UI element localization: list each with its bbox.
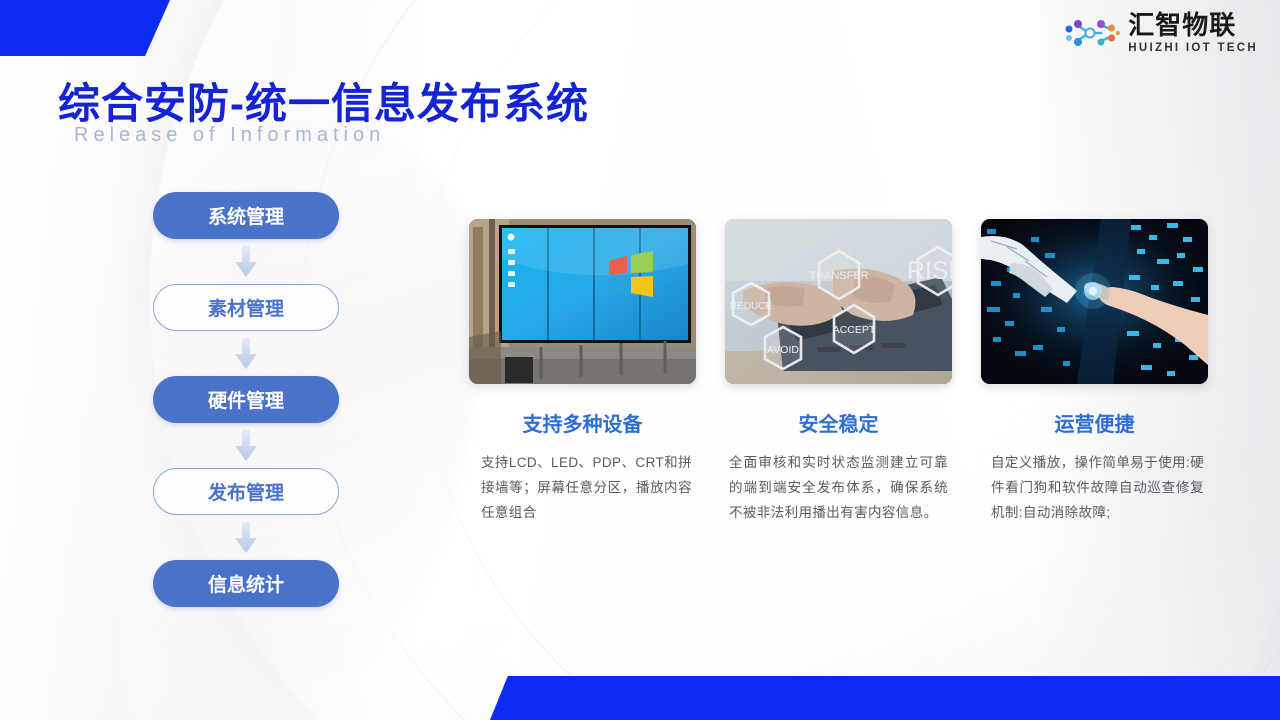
feature-card-title: 运营便捷 [981,408,1208,437]
flow-step-release-management[interactable]: 发布管理 [153,468,339,515]
robot-human-hand-photo [981,219,1208,384]
feature-card-title: 安全稳定 [725,408,952,437]
flow-step-label: 系统管理 [208,202,284,229]
flow-step-hardware-management[interactable]: 硬件管理 [153,376,339,423]
flow-step-label: 硬件管理 [208,386,284,413]
network-nodes-icon [1064,13,1120,53]
arrow-down-icon [235,338,257,369]
logo-name-en: HUIZHI IOT TECH [1128,43,1258,55]
corner-accent-top-left [0,0,170,56]
video-wall-photo [469,219,696,384]
flow-step-label: 素材管理 [208,294,284,321]
corner-accent-bottom-right [490,676,1280,720]
flow-step-label: 信息统计 [208,570,284,597]
feature-card: 支持多种设备 支持LCD、LED、PDP、CRT和拼接墙等；屏幕任意分区，播放内… [469,219,696,526]
feature-card-list: 支持多种设备 支持LCD、LED、PDP、CRT和拼接墙等；屏幕任意分区，播放内… [469,219,1209,526]
arrow-down-icon [235,430,257,461]
flow-step-system-management[interactable]: 系统管理 [153,192,339,239]
feature-card: RISK TRANSFER REDUCE ACCEPT AVOID 安全稳定 全… [725,219,952,526]
feature-card-title: 支持多种设备 [469,408,696,437]
page-subtitle: Release of Information [74,124,385,147]
arrow-down-icon [235,522,257,553]
feature-card-body: 自定义播放，操作简单易于使用:硬件看门狗和软件故障自动巡查修复机制:自动消除故障… [981,451,1208,526]
brand-logo: 汇智物联 HUIZHI IOT TECH [1064,12,1258,55]
slide-canvas: 汇智物联 HUIZHI IOT TECH 综合安防-统一信息发布系统 Relea… [0,0,1280,720]
feature-card: 运营便捷 自定义播放，操作简单易于使用:硬件看门狗和软件故障自动巡查修复机制:自… [981,219,1208,526]
process-flow: 系统管理 素材管理 硬件管理 发布管理 信息统计 [153,192,339,607]
flow-step-material-management[interactable]: 素材管理 [153,284,339,331]
logo-name-cn: 汇智物联 [1128,12,1258,38]
arrow-down-icon [235,246,257,277]
feature-card-body: 支持LCD、LED、PDP、CRT和拼接墙等；屏幕任意分区，播放内容任意组合 [469,451,696,526]
flow-step-label: 发布管理 [208,478,284,505]
flow-step-info-statistics[interactable]: 信息统计 [153,560,339,607]
risk-management-photo: RISK TRANSFER REDUCE ACCEPT AVOID [725,219,952,384]
page-title: 综合安防-统一信息发布系统 [58,70,589,131]
feature-card-body: 全面审核和实时状态监测建立可靠的端到端安全发布体系，确保系统不被非法利用播出有害… [725,451,952,526]
